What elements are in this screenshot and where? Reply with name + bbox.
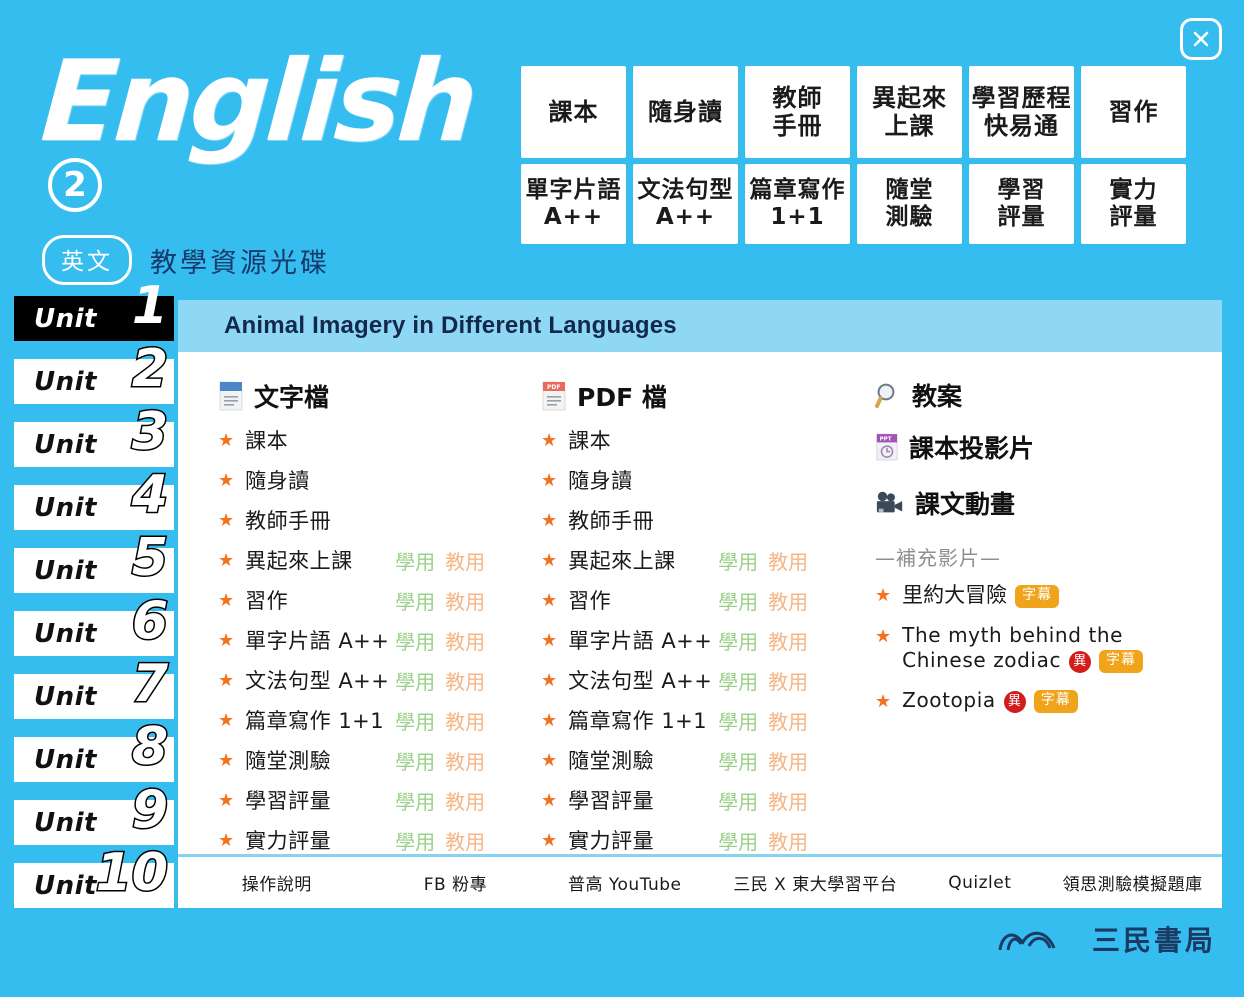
unit-word: Unit bbox=[34, 808, 97, 838]
video-list-item[interactable]: ★里約大冒險字幕 bbox=[875, 575, 1205, 616]
tag-student-use[interactable]: 學用 bbox=[718, 826, 758, 855]
tag-student-use[interactable]: 學用 bbox=[718, 586, 758, 615]
tag-teacher-use[interactable]: 教用 bbox=[768, 666, 808, 695]
tag-teacher-use[interactable]: 教用 bbox=[768, 746, 808, 775]
list-item-label: 學習評量 bbox=[245, 785, 395, 815]
star-icon: ★ bbox=[218, 830, 234, 851]
video-title-wrap: Zootopia異字幕 bbox=[902, 688, 1078, 714]
tag-teacher-use[interactable]: 教用 bbox=[768, 586, 808, 615]
tag-student-use[interactable]: 學用 bbox=[718, 786, 758, 815]
list-item-label: 實力評量 bbox=[568, 825, 718, 855]
column-heading-doc: 文字檔 bbox=[218, 372, 538, 420]
list-item[interactable]: ★教師手冊 bbox=[218, 500, 538, 540]
star-icon: ★ bbox=[218, 670, 234, 691]
tag-teacher-use[interactable]: 教用 bbox=[445, 546, 485, 575]
unit-word: Unit bbox=[34, 304, 97, 334]
tag-teacher-use[interactable]: 教用 bbox=[445, 586, 485, 615]
pdf-row-list: ★課本★隨身讀★教師手冊★異起來上課學用教用★習作學用教用★單字片語 A++學用… bbox=[541, 420, 861, 860]
tag-student-use[interactable]: 學用 bbox=[395, 626, 435, 655]
tag-student-use[interactable]: 學用 bbox=[718, 666, 758, 695]
list-item[interactable]: ★異起來上課學用教用 bbox=[218, 540, 538, 580]
star-icon: ★ bbox=[218, 550, 234, 571]
unit-number: 3 bbox=[132, 406, 168, 458]
list-item-label: 篇章寫作 1+1 bbox=[568, 705, 718, 735]
app-wordmark: English bbox=[38, 46, 477, 158]
unit-word: Unit bbox=[34, 493, 97, 523]
tag-student-use[interactable]: 學用 bbox=[395, 826, 435, 855]
publisher-name: 三民書局 bbox=[1092, 919, 1216, 959]
tag-teacher-use[interactable]: 教用 bbox=[445, 746, 485, 775]
unit-item-3[interactable]: Unit3 bbox=[14, 422, 174, 467]
star-icon: ★ bbox=[541, 630, 557, 651]
doc-icon bbox=[218, 381, 244, 411]
list-item-label: 異起來上課 bbox=[568, 545, 718, 575]
unit-number: 5 bbox=[132, 532, 168, 584]
tag-student-use[interactable]: 學用 bbox=[395, 586, 435, 615]
topnav-button-1[interactable]: 課本 bbox=[521, 66, 626, 158]
video-title: Zootopia bbox=[902, 688, 996, 712]
list-item-label: 教師手冊 bbox=[568, 505, 718, 535]
tag-student-use[interactable]: 學用 bbox=[718, 746, 758, 775]
unit-item-8[interactable]: Unit8 bbox=[14, 737, 174, 782]
panel-body: 文字檔 ★課本★隨身讀★教師手冊★異起來上課學用教用★習作學用教用★單字片語 A… bbox=[178, 352, 1222, 854]
rainbow-arch-icon bbox=[996, 922, 1082, 956]
unit-word: Unit bbox=[34, 556, 97, 586]
unit-item-10[interactable]: Unit10 bbox=[14, 863, 174, 908]
heading-lesson-plan-label: 教案 bbox=[912, 377, 962, 413]
star-icon: ★ bbox=[875, 691, 891, 712]
list-item[interactable]: ★學習評量學用教用 bbox=[218, 780, 538, 820]
tag-teacher-use[interactable]: 教用 bbox=[768, 786, 808, 815]
unit-word: Unit bbox=[34, 745, 97, 775]
publisher-logo: 三民書局 bbox=[996, 919, 1216, 959]
brand-subtitle-row: 英文 教學資源光碟 bbox=[42, 235, 512, 285]
tag-teacher-use[interactable]: 教用 bbox=[445, 626, 485, 655]
list-item[interactable]: ★課本 bbox=[541, 420, 861, 460]
tag-teacher-use[interactable]: 教用 bbox=[445, 706, 485, 735]
column-heading-pdf-label: PDF 檔 bbox=[577, 378, 667, 414]
video-title-wrap: 里約大冒險字幕 bbox=[902, 582, 1059, 609]
unit-item-1[interactable]: Unit1 bbox=[14, 296, 174, 341]
tag-student-use[interactable]: 學用 bbox=[718, 706, 758, 735]
star-icon: ★ bbox=[218, 790, 234, 811]
footer-link-3[interactable]: 普高 YouTube bbox=[535, 870, 714, 895]
unit-number: 2 bbox=[132, 343, 168, 395]
tag-teacher-use[interactable]: 教用 bbox=[445, 786, 485, 815]
top-nav-grid: 課本隨身讀教師 手冊異起來 上課學習歷程 快易通習作單字片語 A++文法句型 A… bbox=[521, 66, 1186, 244]
star-icon: ★ bbox=[541, 750, 557, 771]
badge-subtitle[interactable]: 字幕 bbox=[1099, 650, 1143, 673]
list-item[interactable]: ★習作學用教用 bbox=[541, 580, 861, 620]
list-item-label: 習作 bbox=[568, 585, 718, 615]
list-item[interactable]: ★課本 bbox=[218, 420, 538, 460]
unit-word: Unit bbox=[34, 367, 97, 397]
video-list-item[interactable]: ★Zootopia異字幕 bbox=[875, 681, 1205, 721]
star-icon: ★ bbox=[218, 590, 234, 611]
list-item-label: 篇章寫作 1+1 bbox=[245, 705, 395, 735]
badge-variant[interactable]: 異 bbox=[1069, 651, 1091, 673]
column-heading-pdf: PDF PDF 檔 bbox=[541, 372, 861, 420]
topnav-button-6[interactable]: 習作 bbox=[1081, 66, 1186, 158]
list-item[interactable]: ★文法句型 A++學用教用 bbox=[218, 660, 538, 700]
unit-word: Unit bbox=[34, 871, 97, 901]
heading-lesson-plan[interactable]: 教案 bbox=[875, 372, 1205, 418]
supplement-divider-label: —補充影片— bbox=[875, 542, 1205, 571]
list-item[interactable]: ★單字片語 A++學用教用 bbox=[218, 620, 538, 660]
unit-item-4[interactable]: Unit4 bbox=[14, 485, 174, 530]
panel-footer: 操作說明FB 粉專普高 YouTube三民 X 東大學習平台Quizlet領思測… bbox=[178, 854, 1222, 908]
star-icon: ★ bbox=[541, 790, 557, 811]
topnav-button-9[interactable]: 篇章寫作 1+1 bbox=[745, 164, 850, 244]
topnav-button-11[interactable]: 學習 評量 bbox=[969, 164, 1074, 244]
star-icon: ★ bbox=[541, 550, 557, 571]
star-icon: ★ bbox=[875, 585, 891, 606]
tag-teacher-use[interactable]: 教用 bbox=[768, 826, 808, 855]
close-icon bbox=[1191, 29, 1211, 49]
list-item[interactable]: ★隨身讀 bbox=[218, 460, 538, 500]
unit-number: 7 bbox=[132, 658, 168, 710]
unit-word: Unit bbox=[34, 682, 97, 712]
unit-number: 8 bbox=[132, 721, 168, 773]
unit-word: Unit bbox=[34, 619, 97, 649]
unit-number: 10 bbox=[96, 847, 168, 899]
star-icon: ★ bbox=[541, 830, 557, 851]
unit-word: Unit bbox=[34, 430, 97, 460]
supplement-video-list: ★里約大冒險字幕★The myth behind the Chinese zod… bbox=[875, 575, 1205, 721]
list-item-label: 隨堂測驗 bbox=[245, 745, 395, 775]
magnifier-icon bbox=[875, 382, 902, 409]
list-item-label: 教師手冊 bbox=[245, 505, 395, 535]
close-button[interactable] bbox=[1180, 18, 1222, 60]
tag-teacher-use[interactable]: 教用 bbox=[768, 546, 808, 575]
svg-text:PDF: PDF bbox=[547, 384, 560, 391]
star-icon: ★ bbox=[218, 510, 234, 531]
svg-text:PPT: PPT bbox=[880, 437, 892, 443]
brand-block: English2 英文 教學資源光碟 bbox=[42, 46, 512, 285]
list-item-label: 課本 bbox=[245, 425, 395, 455]
content-panel: Animal Imagery in Different Languages 文字… bbox=[178, 300, 1222, 908]
list-item-label: 異起來上課 bbox=[245, 545, 395, 575]
pdf-icon: PDF bbox=[541, 381, 567, 411]
panel-header: Animal Imagery in Different Languages bbox=[178, 300, 1222, 352]
tag-teacher-use[interactable]: 教用 bbox=[445, 666, 485, 695]
badge-subtitle[interactable]: 字幕 bbox=[1015, 585, 1059, 608]
topnav-button-2[interactable]: 隨身讀 bbox=[633, 66, 738, 158]
list-item-label: 實力評量 bbox=[245, 825, 395, 855]
tag-student-use[interactable]: 學用 bbox=[395, 706, 435, 735]
unit-item-2[interactable]: Unit2 bbox=[14, 359, 174, 404]
list-item-label: 單字片語 A++ bbox=[245, 625, 395, 655]
star-icon: ★ bbox=[218, 630, 234, 651]
column-extras: 教案 PPT 課本投影片 bbox=[875, 352, 1205, 721]
badge-variant[interactable]: 異 bbox=[1004, 691, 1026, 713]
tag-student-use[interactable]: 學用 bbox=[395, 666, 435, 695]
column-heading-doc-label: 文字檔 bbox=[254, 378, 329, 414]
video-camera-icon bbox=[875, 490, 905, 516]
app-root: English2 英文 教學資源光碟 課本隨身讀教師 手冊異起來 上課學習歷程 … bbox=[0, 0, 1244, 997]
star-icon: ★ bbox=[541, 430, 557, 451]
star-icon: ★ bbox=[541, 470, 557, 491]
list-item[interactable]: ★教師手冊 bbox=[541, 500, 861, 540]
list-item[interactable]: ★篇章寫作 1+1學用教用 bbox=[541, 700, 861, 740]
unit-sidebar: Unit1Unit2Unit3Unit4Unit5Unit6Unit7Unit8… bbox=[14, 296, 174, 926]
column-text-files: 文字檔 ★課本★隨身讀★教師手冊★異起來上課學用教用★習作學用教用★單字片語 A… bbox=[218, 352, 538, 860]
unit-item-7[interactable]: Unit7 bbox=[14, 674, 174, 719]
footer-link-6[interactable]: 領思測驗模擬題庫 bbox=[1043, 870, 1222, 895]
star-icon: ★ bbox=[541, 710, 557, 731]
unit-number: 1 bbox=[132, 280, 168, 332]
subject-chip: 英文 bbox=[42, 235, 132, 285]
heading-text-animation-label: 課文動畫 bbox=[915, 485, 1015, 521]
star-icon: ★ bbox=[218, 750, 234, 771]
star-icon: ★ bbox=[218, 470, 234, 491]
unit-number: 9 bbox=[132, 784, 168, 836]
list-item-label: 學習評量 bbox=[568, 785, 718, 815]
footer-link-4[interactable]: 三民 X 東大學習平台 bbox=[714, 870, 916, 895]
badge-subtitle[interactable]: 字幕 bbox=[1034, 690, 1078, 713]
list-item[interactable]: ★隨堂測驗學用教用 bbox=[541, 740, 861, 780]
topnav-button-7[interactable]: 單字片語 A++ bbox=[521, 164, 626, 244]
topnav-button-5[interactable]: 學習歷程 快易通 bbox=[969, 66, 1074, 158]
doc-row-list: ★課本★隨身讀★教師手冊★異起來上課學用教用★習作學用教用★單字片語 A++學用… bbox=[218, 420, 538, 860]
topnav-button-3[interactable]: 教師 手冊 bbox=[745, 66, 850, 158]
star-icon: ★ bbox=[541, 510, 557, 531]
unit-number: 4 bbox=[132, 469, 168, 521]
heading-textbook-slides-label: 課本投影片 bbox=[909, 429, 1034, 465]
list-item-label: 單字片語 A++ bbox=[568, 625, 718, 655]
list-item[interactable]: ★異起來上課學用教用 bbox=[541, 540, 861, 580]
tag-teacher-use[interactable]: 教用 bbox=[445, 826, 485, 855]
list-item-label: 文法句型 A++ bbox=[245, 665, 395, 695]
topnav-button-12[interactable]: 實力 評量 bbox=[1081, 164, 1186, 244]
topnav-button-4[interactable]: 異起來 上課 bbox=[857, 66, 962, 158]
tag-student-use[interactable]: 學用 bbox=[395, 746, 435, 775]
unit-item-9[interactable]: Unit9 bbox=[14, 800, 174, 845]
star-icon: ★ bbox=[875, 626, 891, 647]
list-item[interactable]: ★習作學用教用 bbox=[218, 580, 538, 620]
list-item[interactable]: ★單字片語 A++學用教用 bbox=[541, 620, 861, 660]
video-list-item[interactable]: ★The myth behind the Chinese zodiac異字幕 bbox=[875, 616, 1205, 681]
heading-textbook-slides[interactable]: PPT 課本投影片 bbox=[875, 424, 1205, 470]
page-title: Animal Imagery in Different Languages bbox=[224, 312, 677, 340]
list-item-label: 文法句型 A++ bbox=[568, 665, 718, 695]
list-item-label: 隨身讀 bbox=[568, 465, 718, 495]
list-item-label: 隨堂測驗 bbox=[568, 745, 718, 775]
list-item[interactable]: ★篇章寫作 1+1學用教用 bbox=[218, 700, 538, 740]
list-item-label: 習作 bbox=[245, 585, 395, 615]
footer-link-5[interactable]: Quizlet bbox=[916, 873, 1043, 893]
tag-student-use[interactable]: 學用 bbox=[718, 546, 758, 575]
footer-link-2[interactable]: FB 粉專 bbox=[376, 870, 536, 895]
topnav-button-10[interactable]: 隨堂 測驗 bbox=[857, 164, 962, 244]
footer-link-1[interactable]: 操作說明 bbox=[178, 870, 376, 895]
star-icon: ★ bbox=[218, 710, 234, 731]
video-title-wrap: The myth behind the Chinese zodiac異字幕 bbox=[902, 623, 1205, 674]
tag-teacher-use[interactable]: 教用 bbox=[768, 706, 808, 735]
tag-student-use[interactable]: 學用 bbox=[395, 546, 435, 575]
tag-teacher-use[interactable]: 教用 bbox=[768, 626, 808, 655]
brand-tagline: 教學資源光碟 bbox=[150, 241, 330, 280]
star-icon: ★ bbox=[541, 670, 557, 691]
topnav-button-8[interactable]: 文法句型 A++ bbox=[633, 164, 738, 244]
unit-number: 6 bbox=[132, 595, 168, 647]
heading-text-animation[interactable]: 課文動畫 bbox=[875, 480, 1205, 526]
unit-item-5[interactable]: Unit5 bbox=[14, 548, 174, 593]
star-icon: ★ bbox=[541, 590, 557, 611]
tag-student-use[interactable]: 學用 bbox=[395, 786, 435, 815]
star-icon: ★ bbox=[218, 430, 234, 451]
list-item[interactable]: ★隨身讀 bbox=[541, 460, 861, 500]
list-item[interactable]: ★文法句型 A++學用教用 bbox=[541, 660, 861, 700]
column-pdf-files: PDF PDF 檔 ★課本★隨身讀★教師手冊★異起來上課學用教用★習作學用教用★… bbox=[541, 352, 861, 860]
list-item-label: 課本 bbox=[568, 425, 718, 455]
unit-item-6[interactable]: Unit6 bbox=[14, 611, 174, 656]
list-item[interactable]: ★學習評量學用教用 bbox=[541, 780, 861, 820]
tag-student-use[interactable]: 學用 bbox=[718, 626, 758, 655]
list-item-label: 隨身讀 bbox=[245, 465, 395, 495]
list-item[interactable]: ★隨堂測驗學用教用 bbox=[218, 740, 538, 780]
video-title: 里約大冒險 bbox=[902, 583, 1007, 607]
ppt-icon: PPT bbox=[875, 433, 899, 461]
